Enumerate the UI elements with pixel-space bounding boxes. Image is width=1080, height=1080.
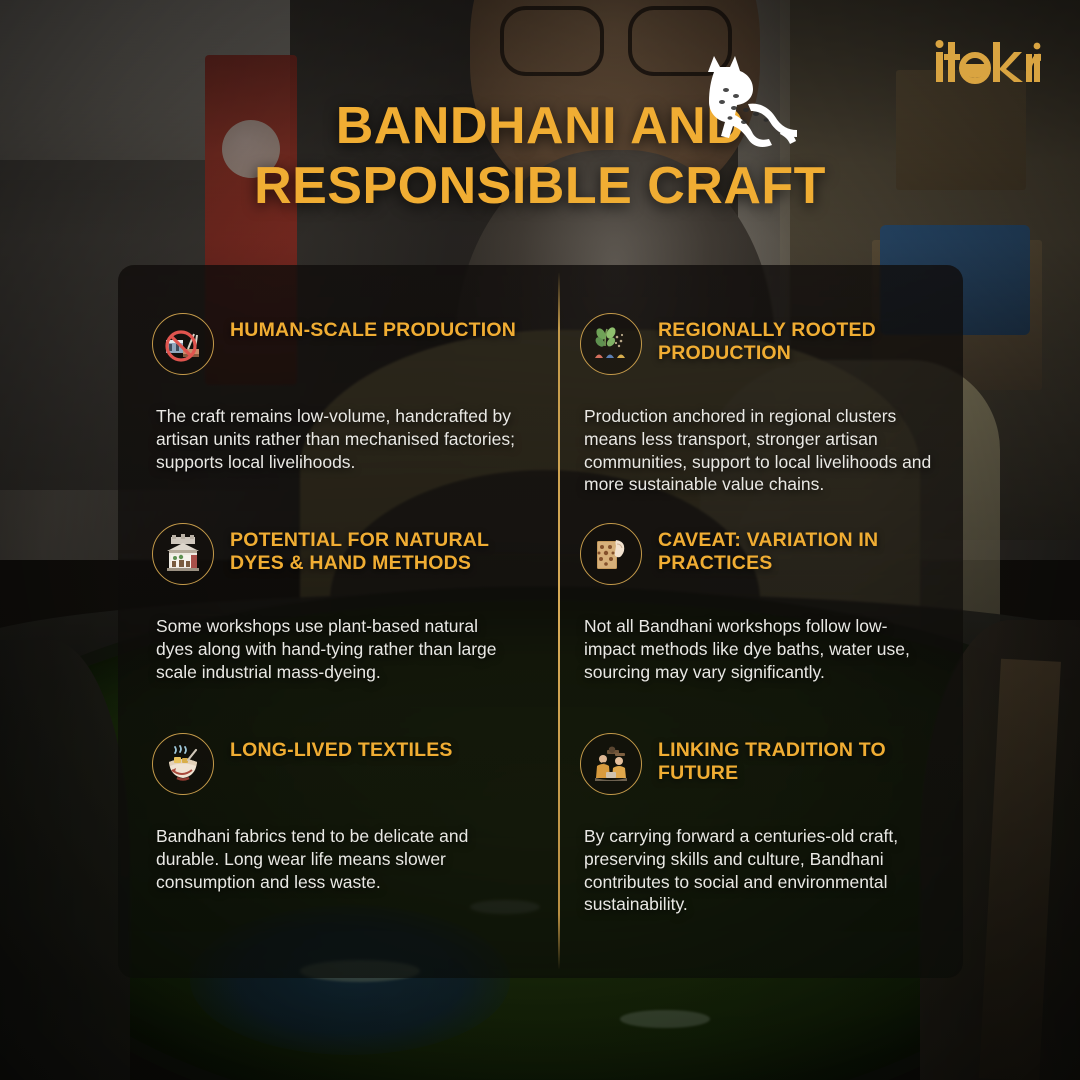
card-header: LINKING TRADITION TO FUTURE xyxy=(580,733,939,795)
card-title: LINKING TRADITION TO FUTURE xyxy=(658,733,939,786)
card-title: HUMAN-SCALE PRODUCTION xyxy=(230,313,516,342)
leopard-icon xyxy=(686,52,802,150)
card-long-lived-textiles: LONG-LIVED TEXTILES Bandhani fabrics ten… xyxy=(118,685,558,915)
card-header: LONG-LIVED TEXTILES xyxy=(152,733,518,795)
card-body: The craft remains low-volume, handcrafte… xyxy=(152,375,518,473)
card-caveat-variation-in-practices: CAVEAT: VARIATION IN PRACTICES Not all B… xyxy=(558,475,963,685)
steaming-dye-pot-icon xyxy=(152,733,214,795)
plant-pigments-icon xyxy=(580,313,642,375)
card-header: HUMAN-SCALE PRODUCTION xyxy=(152,313,518,375)
card-human-scale-production: HUMAN-SCALE PRODUCTION The craft remains… xyxy=(118,265,558,475)
no-factory-icon xyxy=(152,313,214,375)
card-linking-tradition-to-future: LINKING TRADITION TO FUTURE By carrying … xyxy=(558,685,963,915)
craft-workshop-building-icon xyxy=(152,523,214,585)
card-header: POTENTIAL FOR NATURAL DYES & HAND METHOD… xyxy=(152,523,518,585)
cards-grid: HUMAN-SCALE PRODUCTION The craft remains… xyxy=(118,265,963,978)
infographic-poster: BANDHANI AND RESPONSIBLE CRAFT xyxy=(0,0,1080,1080)
page-title: BANDHANI AND RESPONSIBLE CRAFT xyxy=(0,96,1080,217)
card-regionally-rooted-production: REGIONALLY ROOTED PRODUCTION Production … xyxy=(558,265,963,475)
card-title: REGIONALLY ROOTED PRODUCTION xyxy=(658,313,939,366)
page-title-line-2: RESPONSIBLE CRAFT xyxy=(0,156,1080,216)
card-natural-dyes-hand-methods: POTENTIAL FOR NATURAL DYES & HAND METHOD… xyxy=(118,475,558,685)
page-title-line-1: BANDHANI AND xyxy=(336,97,745,155)
card-body: Not all Bandhani workshops follow low-im… xyxy=(580,585,939,683)
page-title-block: BANDHANI AND RESPONSIBLE CRAFT xyxy=(0,96,1080,217)
card-header: REGIONALLY ROOTED PRODUCTION xyxy=(580,313,939,375)
card-title: CAVEAT: VARIATION IN PRACTICES xyxy=(658,523,939,576)
itokri-logo[interactable] xyxy=(934,38,1042,90)
card-header: CAVEAT: VARIATION IN PRACTICES xyxy=(580,523,939,585)
card-body: Bandhani fabrics tend to be delicate and… xyxy=(152,795,518,893)
card-title: LONG-LIVED TEXTILES xyxy=(230,733,453,762)
card-title: POTENTIAL FOR NATURAL DYES & HAND METHOD… xyxy=(230,523,518,576)
card-body: By carrying forward a centuries-old craf… xyxy=(580,795,939,916)
two-artisans-icon xyxy=(580,733,642,795)
hand-holding-fabric-icon xyxy=(580,523,642,585)
card-body: Some workshops use plant-based natural d… xyxy=(152,585,518,683)
